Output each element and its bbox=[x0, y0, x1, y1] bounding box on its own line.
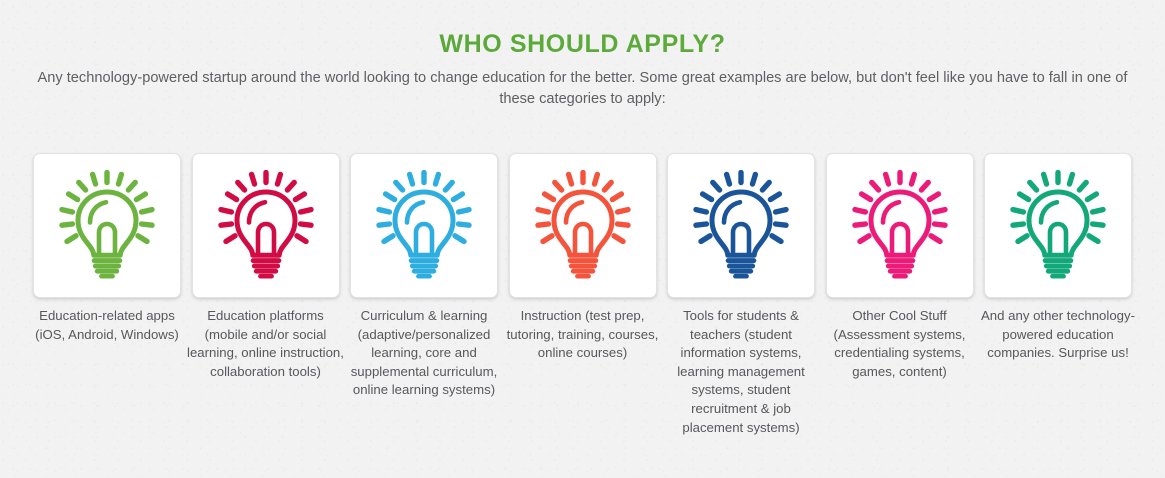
category-card[interactable]: Education platforms (mobile and/or socia… bbox=[192, 153, 340, 381]
category-icon-tile[interactable] bbox=[826, 153, 974, 298]
lightbulb-icon bbox=[372, 170, 476, 282]
category-icon-tile[interactable] bbox=[509, 153, 657, 298]
category-caption: And any other technology-powered educati… bbox=[979, 307, 1137, 363]
category-icon-tile[interactable] bbox=[984, 153, 1132, 298]
category-card-row: Education-related apps (iOS, Android, Wi… bbox=[33, 153, 1132, 437]
category-card[interactable]: Instruction (test prep, tutoring, traini… bbox=[509, 153, 657, 363]
who-should-apply-page: WHO SHOULD APPLY? Any technology-powered… bbox=[0, 0, 1165, 478]
category-icon-tile[interactable] bbox=[667, 153, 815, 298]
lightbulb-icon bbox=[55, 170, 159, 282]
lightbulb-icon bbox=[689, 170, 793, 282]
category-caption: Tools for students & teachers (student i… bbox=[662, 307, 820, 437]
category-icon-tile[interactable] bbox=[350, 153, 498, 298]
category-card[interactable]: Tools for students & teachers (student i… bbox=[667, 153, 815, 437]
lightbulb-icon bbox=[848, 170, 952, 282]
lightbulb-icon bbox=[531, 170, 635, 282]
category-card[interactable]: And any other technology-powered educati… bbox=[984, 153, 1132, 363]
category-caption: Other Cool Stuff (Assessment systems, cr… bbox=[821, 307, 979, 381]
category-card[interactable]: Other Cool Stuff (Assessment systems, cr… bbox=[826, 153, 974, 381]
page-subtitle: Any technology-powered startup around th… bbox=[30, 68, 1135, 110]
category-card[interactable]: Education-related apps (iOS, Android, Wi… bbox=[33, 153, 181, 344]
category-caption: Education platforms (mobile and/or socia… bbox=[187, 307, 345, 381]
category-icon-tile[interactable] bbox=[192, 153, 340, 298]
category-card[interactable]: Curriculum & learning (adaptive/personal… bbox=[350, 153, 498, 400]
page-header: WHO SHOULD APPLY? Any technology-powered… bbox=[0, 0, 1165, 110]
category-caption: Education-related apps (iOS, Android, Wi… bbox=[28, 307, 186, 344]
category-caption: Curriculum & learning (adaptive/personal… bbox=[345, 307, 503, 400]
page-title: WHO SHOULD APPLY? bbox=[0, 30, 1165, 59]
lightbulb-icon bbox=[214, 170, 318, 282]
category-icon-tile[interactable] bbox=[33, 153, 181, 298]
lightbulb-icon bbox=[1006, 170, 1110, 282]
category-caption: Instruction (test prep, tutoring, traini… bbox=[504, 307, 662, 363]
